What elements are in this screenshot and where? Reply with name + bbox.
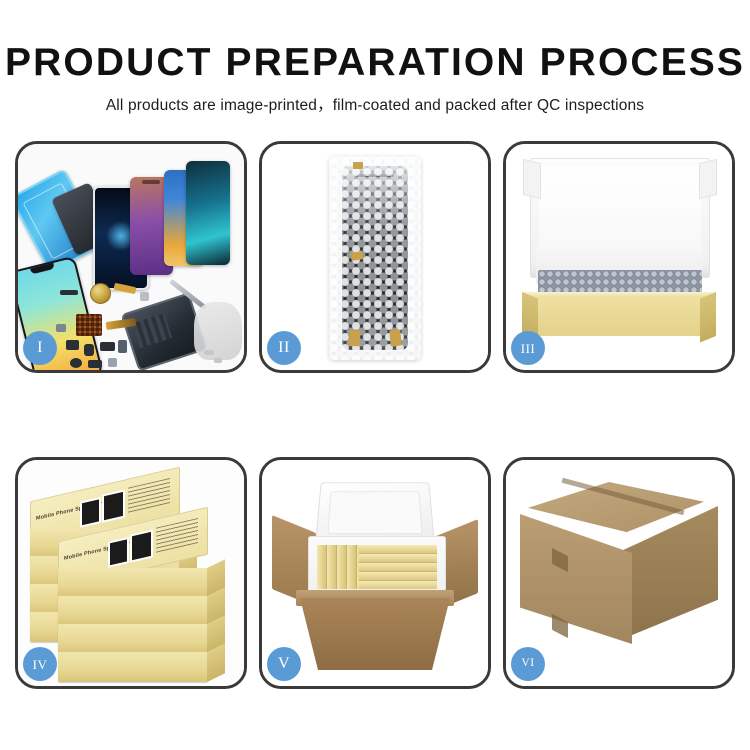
step-panel-4: Mobile Phone Spare Parts Mobile Phone Sp… [15,457,247,689]
inner-box-side [58,568,208,598]
phone-teal-display-icon [186,161,230,265]
small-part-icon [140,292,149,301]
tape-icon [353,162,363,169]
page-subtitle: All products are image-printed，film-coat… [0,84,750,116]
open-shipping-carton [274,480,476,670]
lid-right-flap-icon [699,159,717,199]
box-print-text-lines [156,518,198,554]
vibration-motor-icon [90,283,111,304]
small-part-icon [66,340,79,350]
bubble-texture-overlay [329,156,421,360]
small-part-icon [56,324,66,332]
small-part-icon [60,290,78,295]
step-badge-6: VI [511,647,545,681]
small-part-icon [84,344,94,356]
header: PRODUCT PREPARATION PROCESS All products… [0,0,750,116]
yellow-box-icon [359,545,437,554]
process-steps-grid: I II [15,141,735,693]
box-print-window-icon [108,537,129,568]
tape-icon [348,329,361,346]
page-title: PRODUCT PREPARATION PROCESS [0,0,750,84]
step-badge-1: I [23,331,57,365]
small-part-icon [70,358,82,368]
yellow-box-icon [317,545,327,589]
sealed-shipping-carton [520,482,718,664]
small-part-icon [118,340,127,353]
step-panel-6: VI [503,457,735,689]
stacked-inner-boxes: Mobile Phone Spare Parts Mobile Phone Sp… [24,478,242,674]
step-panel-2: II [259,141,491,373]
box-print-window-icon [80,497,101,528]
step-badge-5: V [267,647,301,681]
hand-icon [194,302,242,360]
box-print-window-icon [130,529,153,562]
box-print-window-icon [102,489,125,522]
yellow-box-icon [327,545,337,589]
step-badge-3: III [511,331,545,365]
yellow-box-tray-icon [522,292,716,336]
step-panel-5: V [259,457,491,689]
open-inner-box [522,158,716,344]
small-part-icon [100,342,115,351]
carton-front-face-icon [520,514,632,644]
product-preparation-infographic: PRODUCT PREPARATION PROCESS All products… [0,0,750,750]
bubble-wrap-bag [329,156,421,360]
yellow-boxes-inside [317,545,437,589]
tape-icon [351,251,364,261]
box-print-text-lines [128,478,170,514]
small-part-icon [214,358,222,363]
yellow-box-icon [359,563,437,572]
yellow-box-icon [347,545,357,589]
inner-box-side [58,652,208,682]
lid-left-flap-icon [523,159,541,199]
yellow-box-icon [337,545,347,589]
step-panel-3: III [503,141,735,373]
small-part-icon [204,350,214,355]
step-badge-4: IV [23,647,57,681]
tape-icon [389,329,402,346]
step-panel-1: I [15,141,247,373]
inner-box-side [58,596,208,626]
yellow-box-icon [359,554,437,563]
step-badge-2: II [267,331,301,365]
small-part-icon [108,358,117,367]
small-part-icon [88,360,102,368]
yellow-box-icon [359,581,437,589]
connector-grid-icon [76,314,102,336]
yellow-box-icon [359,572,437,581]
inner-box-side [58,624,208,654]
carton-front-panel-icon [300,598,450,670]
